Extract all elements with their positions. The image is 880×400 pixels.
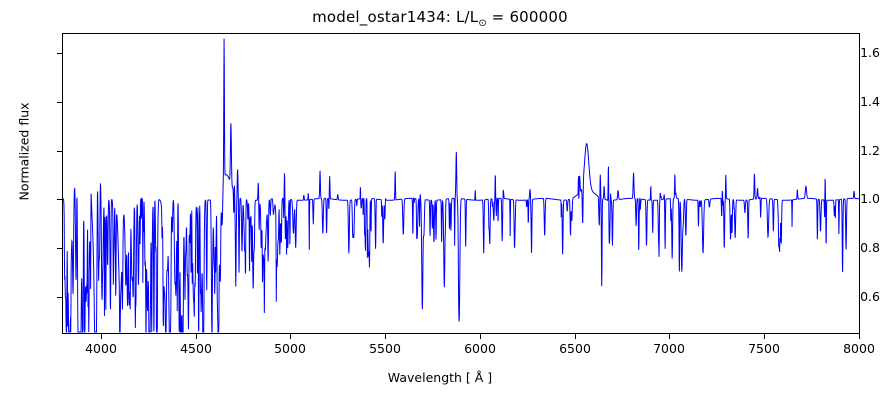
plot-title: model_ostar1434: L/L⊙ = 600000 xyxy=(0,8,880,29)
y-tick-label: 1.0 xyxy=(832,191,880,206)
y-tick-label: 0.8 xyxy=(832,240,880,255)
y-tick-mark xyxy=(57,297,62,298)
y-tick-mark xyxy=(57,151,62,152)
y-tick-mark xyxy=(57,53,62,54)
title-value: 600000 xyxy=(509,8,567,26)
flux-trace xyxy=(63,39,859,332)
x-tick-mark xyxy=(385,334,386,339)
x-tick-mark xyxy=(859,334,860,339)
y-tick-mark xyxy=(57,199,62,200)
y-tick-mark xyxy=(57,102,62,103)
x-tick-label: 5500 xyxy=(350,341,420,356)
x-tick-label: 7000 xyxy=(634,341,704,356)
x-tick-label: 6500 xyxy=(540,341,610,356)
y-axis-label: Normalized flux xyxy=(17,72,32,232)
x-tick-label: 8000 xyxy=(824,341,880,356)
sun-symbol-icon: ⊙ xyxy=(478,18,486,29)
title-equals: = xyxy=(487,8,510,26)
x-tick-label: 7500 xyxy=(729,341,799,356)
title-quantity: L/L xyxy=(456,8,478,26)
title-separator: : xyxy=(446,8,456,26)
y-tick-label: 0.6 xyxy=(832,289,880,304)
y-tick-label: 1.6 xyxy=(832,45,880,60)
x-tick-mark xyxy=(480,334,481,339)
x-tick-mark xyxy=(196,334,197,339)
x-tick-label: 6000 xyxy=(445,341,515,356)
spectrum-line xyxy=(63,34,859,333)
x-tick-label: 5000 xyxy=(255,341,325,356)
x-tick-mark xyxy=(764,334,765,339)
x-tick-mark xyxy=(669,334,670,339)
x-tick-mark xyxy=(290,334,291,339)
y-tick-label: 1.4 xyxy=(832,94,880,109)
x-tick-mark xyxy=(575,334,576,339)
x-tick-label: 4500 xyxy=(161,341,231,356)
y-tick-label: 1.2 xyxy=(832,143,880,158)
plot-axes xyxy=(62,33,860,334)
x-axis-label: Wavelength [ Å ] xyxy=(0,370,880,385)
x-tick-mark xyxy=(101,334,102,339)
y-tick-mark xyxy=(57,248,62,249)
title-model-name: model_ostar1434 xyxy=(312,8,446,26)
spectrum-figure: model_ostar1434: L/L⊙ = 600000 0.60.81.0… xyxy=(0,0,880,400)
x-tick-label: 4000 xyxy=(66,341,136,356)
